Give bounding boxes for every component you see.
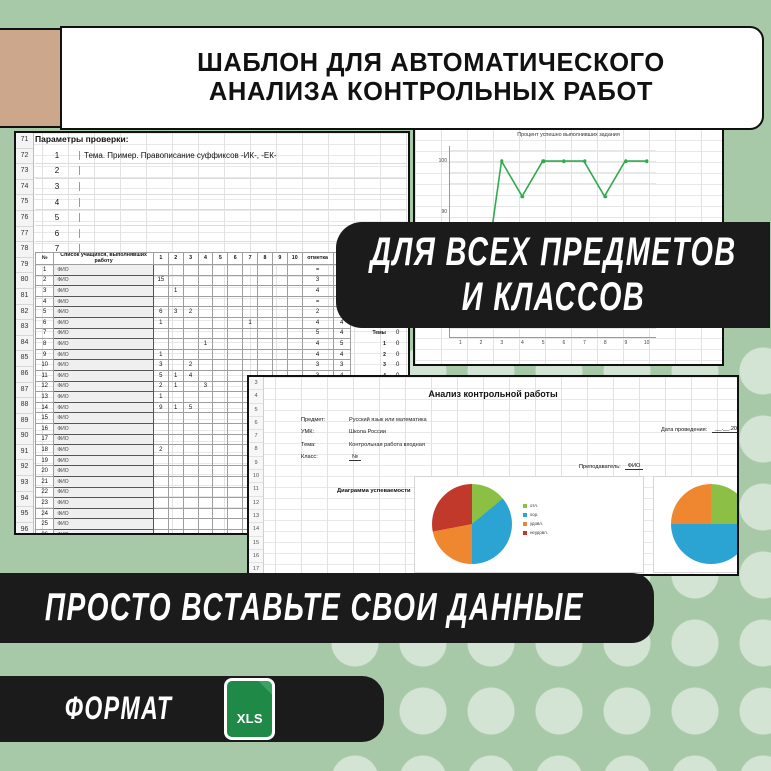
table-cell[interactable] bbox=[228, 307, 243, 318]
column-header: 7 bbox=[243, 253, 258, 265]
table-cell[interactable] bbox=[198, 466, 213, 477]
pie-chart-2-container[interactable]: отл.хор.удовл.неудовл. bbox=[653, 476, 739, 573]
table-cell[interactable] bbox=[198, 318, 213, 329]
table-cell[interactable] bbox=[153, 286, 168, 297]
table-cell[interactable] bbox=[287, 360, 302, 371]
table-cell[interactable]: 2 bbox=[302, 307, 333, 318]
field-value[interactable]: № bbox=[349, 454, 361, 461]
table-cell[interactable]: 13 bbox=[36, 392, 54, 403]
table-cell[interactable] bbox=[213, 339, 228, 350]
analysis-field[interactable]: Тема:Контрольная работа входная bbox=[301, 439, 427, 451]
table-cell[interactable] bbox=[153, 296, 168, 307]
table-cell[interactable] bbox=[183, 392, 198, 403]
student-name-cell[interactable]: ФИО bbox=[54, 296, 154, 307]
student-name-cell[interactable]: ФИО bbox=[54, 445, 154, 456]
table-cell[interactable] bbox=[213, 455, 228, 466]
table-cell[interactable]: 5 bbox=[153, 371, 168, 382]
table-cell[interactable]: 4 bbox=[302, 349, 333, 360]
table-cell[interactable]: 1 bbox=[153, 392, 168, 403]
table-cell[interactable]: 4 bbox=[302, 318, 333, 329]
table-cell[interactable] bbox=[168, 328, 183, 339]
student-name-cell[interactable]: ФИО bbox=[54, 424, 154, 435]
table-cell[interactable]: 6 bbox=[36, 318, 54, 329]
table-cell[interactable] bbox=[183, 445, 198, 456]
table-cell[interactable] bbox=[198, 529, 213, 535]
table-cell[interactable] bbox=[228, 318, 243, 329]
table-cell[interactable] bbox=[183, 275, 198, 286]
table-row[interactable]: 7ФИО54Темы0 bbox=[36, 328, 408, 339]
table-cell[interactable]: 4 bbox=[333, 349, 350, 360]
date-value[interactable]: __.__.202_ bbox=[712, 426, 739, 433]
table-cell[interactable] bbox=[153, 466, 168, 477]
table-cell[interactable] bbox=[168, 339, 183, 350]
table-cell[interactable] bbox=[183, 519, 198, 530]
table-cell[interactable] bbox=[168, 413, 183, 424]
table-cell[interactable] bbox=[183, 381, 198, 392]
table-cell[interactable] bbox=[228, 265, 243, 276]
table-cell[interactable] bbox=[213, 296, 228, 307]
table-cell[interactable] bbox=[228, 455, 243, 466]
table-cell[interactable]: = bbox=[302, 265, 333, 276]
table-cell[interactable]: 3 bbox=[168, 307, 183, 318]
table-cell[interactable] bbox=[153, 424, 168, 435]
table-cell[interactable]: 26 bbox=[36, 529, 54, 535]
table-cell[interactable] bbox=[153, 413, 168, 424]
table-cell[interactable] bbox=[198, 286, 213, 297]
table-cell[interactable] bbox=[272, 318, 287, 329]
table-cell[interactable] bbox=[243, 265, 258, 276]
table-cell[interactable] bbox=[287, 349, 302, 360]
table-cell[interactable] bbox=[243, 286, 258, 297]
table-cell[interactable] bbox=[168, 318, 183, 329]
table-cell[interactable] bbox=[183, 296, 198, 307]
table-cell[interactable] bbox=[183, 349, 198, 360]
table-cell[interactable] bbox=[213, 371, 228, 382]
table-cell[interactable] bbox=[272, 339, 287, 350]
table-cell[interactable] bbox=[228, 360, 243, 371]
table-cell[interactable]: 11 bbox=[36, 371, 54, 382]
table-cell[interactable]: 2 bbox=[183, 307, 198, 318]
teacher-value[interactable]: ФИО bbox=[625, 463, 644, 470]
table-cell[interactable] bbox=[198, 275, 213, 286]
table-cell[interactable] bbox=[213, 307, 228, 318]
parameter-row[interactable]: 1Тема. Пример. Правописание суффиксов -И… bbox=[35, 148, 407, 164]
table-cell[interactable] bbox=[183, 476, 198, 487]
table-cell[interactable] bbox=[213, 445, 228, 456]
table-row[interactable]: 10ФИО323330 bbox=[36, 360, 408, 371]
table-cell[interactable]: 2 bbox=[183, 360, 198, 371]
table-cell[interactable] bbox=[183, 413, 198, 424]
table-cell[interactable] bbox=[287, 296, 302, 307]
analysis-field[interactable]: УМК:Школа России bbox=[301, 426, 427, 438]
table-cell[interactable] bbox=[183, 498, 198, 509]
table-cell[interactable] bbox=[228, 529, 243, 535]
table-cell[interactable] bbox=[183, 466, 198, 477]
table-cell[interactable]: 4 bbox=[302, 286, 333, 297]
table-cell[interactable]: 4 bbox=[183, 371, 198, 382]
table-cell[interactable] bbox=[228, 434, 243, 445]
table-cell[interactable] bbox=[213, 424, 228, 435]
table-cell[interactable] bbox=[198, 487, 213, 498]
table-cell[interactable] bbox=[198, 402, 213, 413]
table-cell[interactable]: 17 bbox=[36, 434, 54, 445]
table-cell[interactable]: 3 bbox=[302, 275, 333, 286]
table-cell[interactable]: 2 bbox=[153, 445, 168, 456]
table-cell[interactable] bbox=[183, 265, 198, 276]
table-cell[interactable] bbox=[168, 529, 183, 535]
table-cell[interactable] bbox=[198, 392, 213, 403]
table-cell[interactable] bbox=[272, 349, 287, 360]
page-fold-corner-icon bbox=[258, 681, 272, 695]
table-cell[interactable]: 1 bbox=[153, 349, 168, 360]
table-cell[interactable] bbox=[243, 349, 258, 360]
table-cell[interactable]: 25 bbox=[36, 519, 54, 530]
table-cell[interactable]: 5 bbox=[183, 402, 198, 413]
table-cell[interactable]: 2 bbox=[36, 275, 54, 286]
table-cell[interactable] bbox=[183, 286, 198, 297]
table-cell[interactable] bbox=[213, 318, 228, 329]
table-cell[interactable] bbox=[258, 265, 273, 276]
table-cell[interactable] bbox=[228, 286, 243, 297]
legend-item: отл. bbox=[523, 501, 548, 510]
table-cell[interactable]: 3 bbox=[302, 360, 333, 371]
table-cell[interactable] bbox=[213, 413, 228, 424]
table-cell[interactable] bbox=[243, 360, 258, 371]
table-cell[interactable]: 1 bbox=[36, 265, 54, 276]
table-cell[interactable]: 5 bbox=[333, 339, 350, 350]
table-cell[interactable] bbox=[228, 275, 243, 286]
table-cell[interactable] bbox=[153, 487, 168, 498]
table-cell[interactable] bbox=[198, 424, 213, 435]
table-cell[interactable] bbox=[213, 519, 228, 530]
table-cell[interactable] bbox=[198, 508, 213, 519]
table-cell[interactable] bbox=[258, 318, 273, 329]
table-cell[interactable] bbox=[168, 360, 183, 371]
table-cell[interactable] bbox=[228, 349, 243, 360]
table-cell[interactable]: 15 bbox=[153, 275, 168, 286]
table-cell[interactable] bbox=[183, 529, 198, 535]
table-cell[interactable] bbox=[198, 349, 213, 360]
table-cell[interactable] bbox=[168, 392, 183, 403]
table-cell[interactable] bbox=[183, 328, 198, 339]
table-cell[interactable]: 5 bbox=[36, 307, 54, 318]
table-cell[interactable]: 4 bbox=[302, 339, 333, 350]
student-name-cell[interactable]: ФИО bbox=[54, 339, 154, 350]
table-cell[interactable] bbox=[198, 519, 213, 530]
table-cell[interactable] bbox=[168, 508, 183, 519]
table-cell[interactable] bbox=[153, 508, 168, 519]
student-name-cell[interactable]: ФИО bbox=[54, 508, 154, 519]
field-value[interactable]: Русский язык или математика bbox=[349, 417, 427, 423]
student-name-cell[interactable]: ФИО bbox=[54, 275, 154, 286]
table-cell[interactable] bbox=[287, 286, 302, 297]
table-cell[interactable] bbox=[168, 296, 183, 307]
table-cell[interactable]: 20 bbox=[36, 466, 54, 477]
table-cell[interactable] bbox=[213, 286, 228, 297]
table-cell[interactable] bbox=[198, 265, 213, 276]
table-cell[interactable] bbox=[153, 265, 168, 276]
table-cell[interactable] bbox=[272, 360, 287, 371]
table-cell[interactable] bbox=[228, 519, 243, 530]
table-cell[interactable]: 14 bbox=[36, 402, 54, 413]
table-cell[interactable] bbox=[168, 434, 183, 445]
student-name-cell[interactable]: ФИО bbox=[54, 381, 154, 392]
table-cell[interactable]: 3 bbox=[36, 286, 54, 297]
student-name-cell[interactable]: ФИО bbox=[54, 413, 154, 424]
table-cell[interactable] bbox=[198, 328, 213, 339]
student-name-cell[interactable]: ФИО bbox=[54, 476, 154, 487]
table-cell[interactable] bbox=[183, 339, 198, 350]
table-cell[interactable] bbox=[243, 307, 258, 318]
table-cell[interactable] bbox=[153, 498, 168, 509]
table-cell[interactable]: 1 bbox=[243, 318, 258, 329]
table-cell[interactable] bbox=[243, 296, 258, 307]
table-cell[interactable] bbox=[198, 445, 213, 456]
analysis-field[interactable]: Предмет:Русский язык или математика bbox=[301, 414, 427, 426]
table-cell[interactable] bbox=[228, 424, 243, 435]
summary-value[interactable]: 0 bbox=[388, 328, 408, 339]
table-cell[interactable]: 2 bbox=[153, 381, 168, 392]
badge-all-subjects-text: ДЛЯ ВСЕХ ПРЕДМЕТОВ И КЛАССОВ bbox=[370, 230, 736, 320]
student-name-cell[interactable]: ФИО bbox=[54, 455, 154, 466]
table-cell[interactable]: 10 bbox=[36, 360, 54, 371]
parameter-row[interactable]: 2 bbox=[35, 164, 407, 180]
table-cell[interactable]: 4 bbox=[333, 328, 350, 339]
table-cell[interactable] bbox=[272, 265, 287, 276]
table-cell[interactable] bbox=[168, 476, 183, 487]
table-cell[interactable] bbox=[153, 339, 168, 350]
table-cell[interactable] bbox=[168, 487, 183, 498]
student-name-cell[interactable]: ФИО bbox=[54, 286, 154, 297]
student-name-cell[interactable]: ФИО bbox=[54, 392, 154, 403]
table-cell[interactable] bbox=[183, 318, 198, 329]
field-value[interactable]: Контрольная работа входная bbox=[349, 442, 425, 448]
table-cell[interactable] bbox=[198, 296, 213, 307]
table-cell[interactable] bbox=[258, 328, 273, 339]
table-cell[interactable] bbox=[198, 371, 213, 382]
table-cell[interactable] bbox=[168, 349, 183, 360]
table-cell[interactable] bbox=[198, 476, 213, 487]
table-cell[interactable]: 23 bbox=[36, 498, 54, 509]
table-cell[interactable] bbox=[213, 392, 228, 403]
table-cell[interactable]: 3 bbox=[198, 381, 213, 392]
table-cell[interactable] bbox=[213, 466, 228, 477]
row-number: 8 bbox=[249, 443, 263, 456]
analysis-fields[interactable]: Предмет:Русский язык или математикаУМК:Ш… bbox=[301, 414, 427, 463]
line-chart-title: Процент успешно выполнивших задания bbox=[415, 132, 722, 138]
table-cell[interactable]: 21 bbox=[36, 476, 54, 487]
table-cell[interactable] bbox=[272, 296, 287, 307]
table-cell[interactable] bbox=[153, 328, 168, 339]
table-cell[interactable]: 1 bbox=[168, 402, 183, 413]
table-cell[interactable]: 3 bbox=[153, 360, 168, 371]
table-cell[interactable]: 19 bbox=[36, 455, 54, 466]
table-cell[interactable] bbox=[272, 307, 287, 318]
table-cell[interactable] bbox=[228, 392, 243, 403]
table-cell[interactable] bbox=[228, 402, 243, 413]
table-cell[interactable]: 7 bbox=[36, 328, 54, 339]
student-name-cell[interactable]: ФИО bbox=[54, 371, 154, 382]
table-cell[interactable] bbox=[272, 275, 287, 286]
table-cell[interactable] bbox=[153, 434, 168, 445]
student-name-cell[interactable]: ФИО bbox=[54, 466, 154, 477]
table-cell[interactable] bbox=[258, 286, 273, 297]
table-cell[interactable] bbox=[228, 487, 243, 498]
table-cell[interactable] bbox=[198, 455, 213, 466]
table-cell[interactable] bbox=[168, 519, 183, 530]
table-cell[interactable]: 15 bbox=[36, 413, 54, 424]
table-cell[interactable]: 18 bbox=[36, 445, 54, 456]
table-cell[interactable] bbox=[213, 328, 228, 339]
table-cell[interactable]: 1 bbox=[153, 318, 168, 329]
table-cell[interactable] bbox=[213, 487, 228, 498]
analysis-date-field[interactable]: Дата проведения: __.__.202_ bbox=[661, 426, 739, 433]
student-name-cell[interactable]: ФИО bbox=[54, 360, 154, 371]
table-cell[interactable] bbox=[153, 519, 168, 530]
table-cell[interactable] bbox=[168, 265, 183, 276]
table-cell[interactable] bbox=[198, 434, 213, 445]
table-cell[interactable]: 16 bbox=[36, 424, 54, 435]
table-cell[interactable] bbox=[213, 498, 228, 509]
table-cell[interactable] bbox=[258, 360, 273, 371]
summary-value[interactable]: 0 bbox=[388, 339, 408, 350]
student-name-cell[interactable]: ФИО bbox=[54, 487, 154, 498]
spreadsheet-analysis-document[interactable]: 34567891011121314151617181920212223 Анал… bbox=[247, 375, 739, 576]
table-row[interactable]: 9ФИО14420 bbox=[36, 349, 408, 360]
table-cell[interactable] bbox=[287, 307, 302, 318]
table-cell[interactable] bbox=[228, 296, 243, 307]
table-cell[interactable] bbox=[198, 413, 213, 424]
parameter-value[interactable]: Тема. Пример. Правописание суффиксов -ИК… bbox=[80, 151, 277, 160]
table-cell[interactable] bbox=[258, 307, 273, 318]
table-cell[interactable] bbox=[287, 318, 302, 329]
table-cell[interactable] bbox=[272, 328, 287, 339]
table-cell[interactable] bbox=[258, 275, 273, 286]
parameter-row[interactable]: 4 bbox=[35, 195, 407, 211]
table-cell[interactable]: 8 bbox=[36, 339, 54, 350]
table-cell[interactable] bbox=[153, 455, 168, 466]
table-cell[interactable] bbox=[287, 275, 302, 286]
table-cell[interactable]: 22 bbox=[36, 487, 54, 498]
table-cell[interactable] bbox=[168, 466, 183, 477]
table-cell[interactable] bbox=[183, 487, 198, 498]
table-cell[interactable]: 24 bbox=[36, 508, 54, 519]
table-cell[interactable] bbox=[213, 275, 228, 286]
table-cell[interactable] bbox=[213, 508, 228, 519]
table-cell[interactable] bbox=[213, 434, 228, 445]
table-cell[interactable] bbox=[287, 339, 302, 350]
table-cell[interactable] bbox=[228, 498, 243, 509]
summary-value[interactable]: 0 bbox=[388, 360, 408, 371]
table-cell[interactable] bbox=[168, 424, 183, 435]
student-name-cell[interactable]: ФИО bbox=[54, 265, 154, 276]
student-name-cell[interactable]: ФИО bbox=[54, 402, 154, 413]
analysis-teacher-field[interactable]: Преподаватель: ФИО bbox=[579, 463, 643, 470]
table-cell[interactable] bbox=[228, 508, 243, 519]
table-cell[interactable] bbox=[183, 455, 198, 466]
table-cell[interactable]: = bbox=[302, 296, 333, 307]
summary-label: Темы bbox=[350, 328, 388, 339]
table-cell[interactable] bbox=[287, 265, 302, 276]
student-name-cell[interactable]: ФИО bbox=[54, 328, 154, 339]
table-cell[interactable] bbox=[213, 360, 228, 371]
table-cell[interactable] bbox=[213, 381, 228, 392]
table-cell[interactable] bbox=[243, 328, 258, 339]
table-cell[interactable] bbox=[243, 275, 258, 286]
table-cell[interactable] bbox=[287, 328, 302, 339]
student-name-cell[interactable]: ФИО bbox=[54, 434, 154, 445]
table-cell[interactable] bbox=[213, 265, 228, 276]
table-cell[interactable]: 1 bbox=[168, 371, 183, 382]
table-cell[interactable] bbox=[198, 360, 213, 371]
table-row[interactable]: 8ФИО14510 bbox=[36, 339, 408, 350]
student-name-cell[interactable]: ФИО bbox=[54, 349, 154, 360]
student-name-cell[interactable]: ФИО bbox=[54, 519, 154, 530]
student-name-cell[interactable]: ФИО bbox=[54, 498, 154, 509]
student-name-cell[interactable]: ФИО bbox=[54, 318, 154, 329]
field-value[interactable]: Школа России bbox=[349, 429, 386, 435]
table-cell[interactable]: 1 bbox=[168, 286, 183, 297]
table-cell[interactable]: 9 bbox=[153, 402, 168, 413]
table-cell[interactable] bbox=[228, 445, 243, 456]
table-cell[interactable] bbox=[213, 529, 228, 535]
legend-label: хор. bbox=[530, 512, 538, 517]
table-cell[interactable]: 1 bbox=[198, 339, 213, 350]
table-cell[interactable] bbox=[213, 349, 228, 360]
table-cell[interactable] bbox=[228, 466, 243, 477]
table-cell[interactable] bbox=[228, 339, 243, 350]
table-cell[interactable]: 4 bbox=[36, 296, 54, 307]
table-cell[interactable] bbox=[228, 381, 243, 392]
table-cell[interactable] bbox=[213, 476, 228, 487]
table-cell[interactable] bbox=[168, 445, 183, 456]
summary-value[interactable]: 0 bbox=[388, 349, 408, 360]
parameter-row[interactable]: 3 bbox=[35, 179, 407, 195]
table-cell[interactable] bbox=[258, 296, 273, 307]
table-cell[interactable] bbox=[168, 455, 183, 466]
analysis-field[interactable]: Класс:№ bbox=[301, 451, 427, 463]
table-cell[interactable]: 12 bbox=[36, 381, 54, 392]
student-name-cell[interactable]: ФИО bbox=[54, 529, 154, 535]
badge-subjects-line2: И КЛАССОВ bbox=[370, 275, 736, 320]
table-cell[interactable] bbox=[183, 508, 198, 519]
table-cell[interactable] bbox=[228, 476, 243, 487]
table-cell[interactable] bbox=[168, 498, 183, 509]
table-cell[interactable] bbox=[198, 498, 213, 509]
pie-chart-1-container[interactable]: отл.хор.удовл.неудовл. bbox=[414, 476, 644, 573]
table-cell[interactable] bbox=[258, 349, 273, 360]
table-cell[interactable] bbox=[213, 402, 228, 413]
table-cell[interactable]: 6 bbox=[153, 307, 168, 318]
table-cell[interactable] bbox=[153, 529, 168, 535]
table-cell[interactable] bbox=[258, 339, 273, 350]
table-cell[interactable] bbox=[183, 424, 198, 435]
student-name-cell[interactable]: ФИО bbox=[54, 307, 154, 318]
table-cell[interactable]: 3 bbox=[333, 360, 350, 371]
table-cell[interactable] bbox=[228, 371, 243, 382]
table-cell[interactable] bbox=[228, 328, 243, 339]
table-cell[interactable]: 1 bbox=[168, 381, 183, 392]
table-cell[interactable] bbox=[183, 434, 198, 445]
table-cell[interactable]: 9 bbox=[36, 349, 54, 360]
table-cell[interactable] bbox=[198, 307, 213, 318]
table-cell[interactable]: 5 bbox=[302, 328, 333, 339]
table-cell[interactable] bbox=[243, 339, 258, 350]
table-cell[interactable] bbox=[153, 476, 168, 487]
table-cell[interactable] bbox=[228, 413, 243, 424]
table-cell[interactable] bbox=[272, 286, 287, 297]
table-cell[interactable] bbox=[168, 275, 183, 286]
